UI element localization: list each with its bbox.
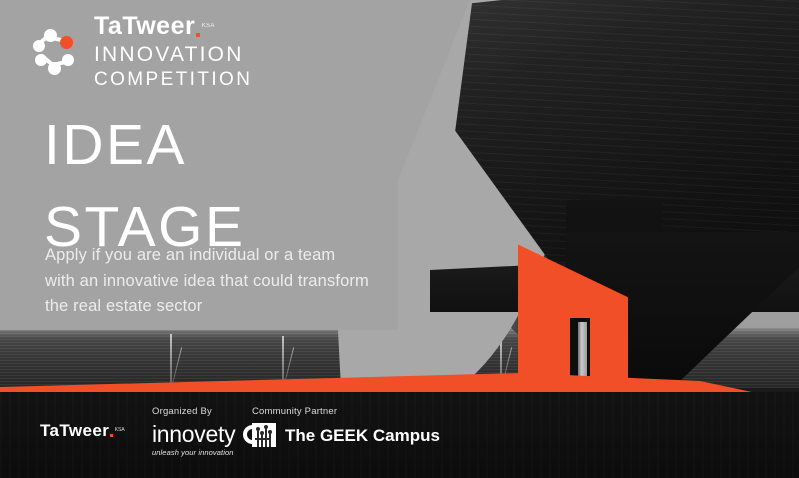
- tatweer-node-cluster-icon: [28, 27, 82, 77]
- content-layer: TaTweer KSA INNOVATION COMPETITION IDEA …: [0, 0, 799, 478]
- footer-tatweer-superscript: KSA: [115, 428, 125, 433]
- brand-accent-dot: [196, 33, 200, 37]
- brand-name: TaTweer: [94, 14, 195, 39]
- geek-campus-logo: The GEEK Campus: [252, 423, 440, 447]
- organizer-block: Organized By innovety unleash your innov…: [152, 406, 262, 457]
- community-partner-block: Community Partner The GEEK Campus: [252, 406, 440, 447]
- geek-campus-circuit-icon: [252, 423, 276, 447]
- brand-lockup: TaTweer KSA INNOVATION COMPETITION: [28, 14, 252, 89]
- innovety-name: innovety: [152, 423, 235, 446]
- geek-campus-name: The GEEK Campus: [285, 427, 440, 444]
- headline-line-1: IDEA: [44, 113, 187, 177]
- footer-tatweer-accent-dot: [110, 434, 113, 437]
- innovety-logo: innovety: [152, 423, 262, 446]
- innovety-tagline: unleash your innovation: [152, 448, 262, 457]
- body-line-3: the real estate sector: [45, 294, 445, 320]
- brand-line-competition: COMPETITION: [94, 70, 252, 89]
- brand-line-innovation: INNOVATION: [94, 44, 252, 65]
- body-line-1: Apply if you are an individual or a team: [45, 243, 445, 269]
- organizer-caption: Organized By: [152, 406, 262, 417]
- body-copy: Apply if you are an individual or a team…: [45, 243, 445, 320]
- brand-superscript: KSA: [202, 23, 215, 29]
- idea-stage-promo-banner: TaTweer KSA INNOVATION COMPETITION IDEA …: [0, 0, 799, 478]
- headline: IDEA STAGE: [44, 112, 245, 260]
- body-line-2: with an innovative idea that could trans…: [45, 269, 445, 295]
- brand-wordmark: TaTweer KSA INNOVATION COMPETITION: [94, 14, 252, 89]
- footer-tatweer-name: TaTweer: [40, 422, 109, 439]
- footer-logo-row: TaTweer KSA Organized By innovety unleas…: [0, 392, 799, 478]
- community-partner-caption: Community Partner: [252, 406, 440, 417]
- footer-tatweer-logo: TaTweer KSA: [40, 422, 125, 439]
